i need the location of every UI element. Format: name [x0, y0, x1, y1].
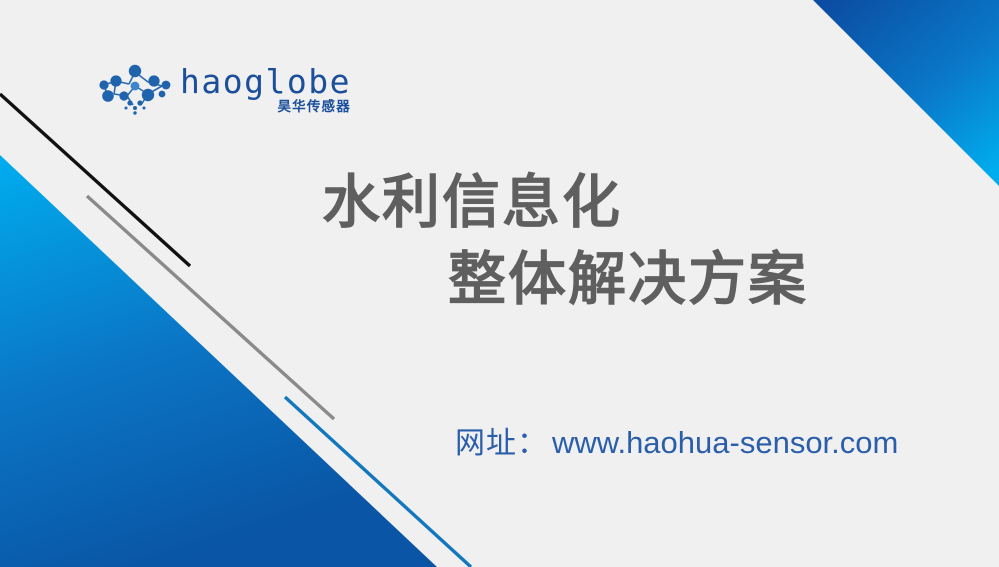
logo-text-block: haoglobe 昊华传感器 — [180, 65, 351, 114]
title-slide: haoglobe 昊华传感器 水利信息化 整体解决方案 网址： www.haoh… — [0, 0, 999, 567]
brand-logo: haoglobe 昊华传感器 — [96, 58, 326, 120]
logo-wordmark: haoglobe — [180, 65, 351, 98]
title-line-2: 整体解决方案 — [448, 242, 920, 319]
website-url[interactable]: www.haohua-sensor.com — [552, 425, 898, 461]
top-right-blue-triangle — [813, 0, 999, 186]
website-label: 网址： — [455, 418, 548, 462]
website-line: 网址： www.haohua-sensor.com — [455, 418, 898, 462]
network-dots-logo-icon — [96, 61, 174, 117]
logo-subtitle: 昊华传感器 — [277, 100, 351, 114]
slide-title: 水利信息化 整体解决方案 — [300, 165, 920, 318]
title-line-1: 水利信息化 — [322, 165, 920, 242]
